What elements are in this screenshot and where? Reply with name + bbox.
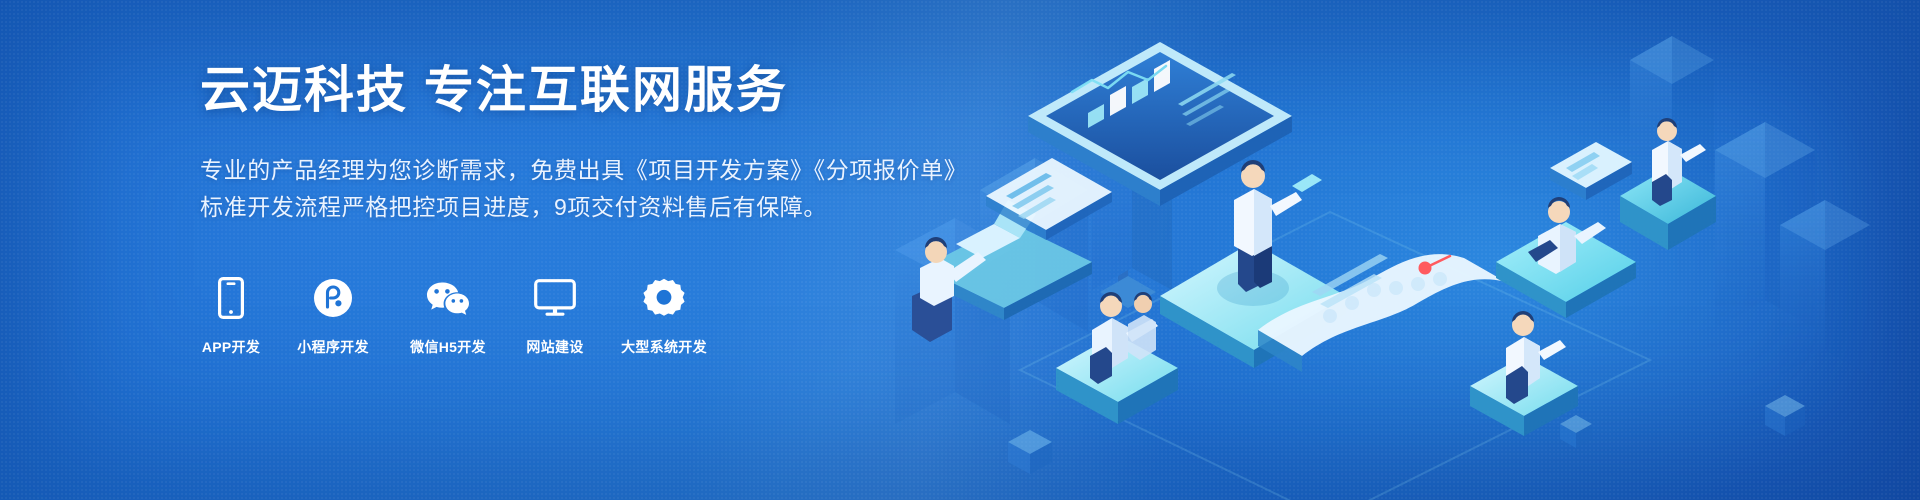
service-item-website[interactable]: 网站建设	[520, 275, 590, 357]
gear-icon	[618, 275, 710, 321]
banner-content: 云迈科技 专注互联网服务 专业的产品经理为您诊断需求，免费出具《项目开发方案》《…	[200, 62, 1100, 357]
service-list: APP开发 小程序开发	[200, 275, 1100, 357]
subtitle-line-1: 专业的产品经理为您诊断需求，免费出具《项目开发方案》《分项报价单》	[200, 152, 1100, 189]
mobile-phone-icon	[200, 275, 262, 321]
mini-program-icon	[290, 275, 376, 321]
service-label: APP开发	[202, 339, 260, 355]
person-with-tablet	[1496, 197, 1636, 318]
service-label: 大型系统开发	[621, 339, 707, 355]
service-label: 小程序开发	[297, 339, 369, 355]
service-item-wechat-h5[interactable]: 微信H5开发	[404, 275, 492, 357]
person-on-pad-bottom-right	[1470, 311, 1578, 436]
floating-info-panel	[1550, 142, 1632, 200]
service-item-mini-program[interactable]: 小程序开发	[290, 275, 376, 357]
service-label: 微信H5开发	[410, 339, 486, 355]
hero-banner: 云迈科技 专注互联网服务 专业的产品经理为您诊断需求，免费出具《项目开发方案》《…	[0, 0, 1920, 500]
subtitle-line-2: 标准开发流程严格把控项目进度，9项交付资料售后有保障。	[200, 189, 1100, 226]
service-item-large-system[interactable]: 大型系统开发	[618, 275, 710, 357]
service-item-app[interactable]: APP开发	[200, 275, 262, 357]
wechat-icon	[404, 275, 492, 321]
monitor-icon	[520, 275, 590, 321]
page-title: 云迈科技 专注互联网服务	[200, 62, 1100, 118]
service-label: 网站建设	[526, 339, 583, 355]
